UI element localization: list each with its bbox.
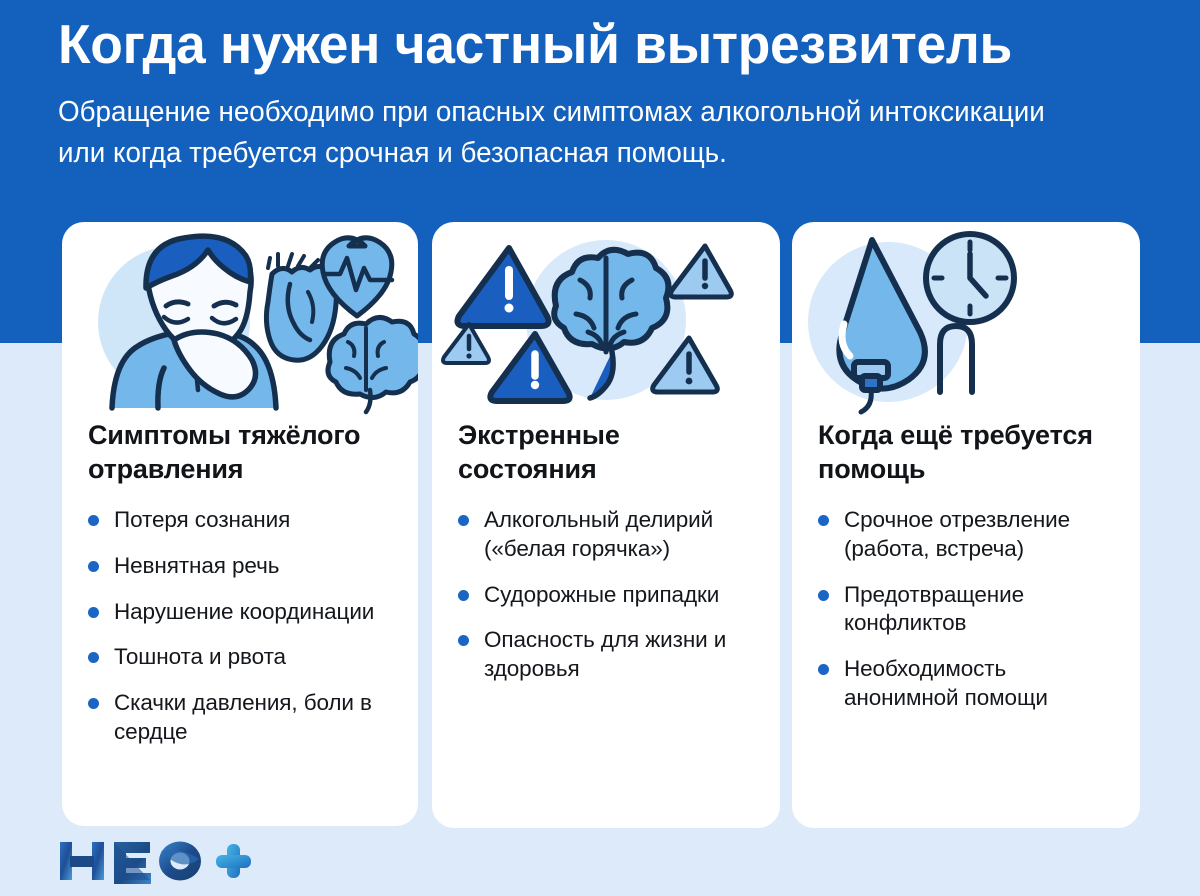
cards-row: Симптомы тяжёлого отравления Потеря созн… <box>0 0 1200 896</box>
bullet-dot-icon <box>88 515 99 526</box>
list-item-label: Срочное отрезвление (работа, встреча) <box>844 507 1070 561</box>
card-severe-poisoning[interactable]: Симптомы тяжёлого отравления Потеря созн… <box>62 222 418 826</box>
list-item: Судорожные припадки <box>458 581 758 610</box>
list-item: Предотвращение конфликтов <box>818 581 1118 639</box>
list-item: Алкогольный делирий («белая горячка») <box>458 506 758 564</box>
list-item: Невнятная речь <box>88 552 396 581</box>
list-item-label: Необходимость анонимной помощи <box>844 656 1048 710</box>
bullet-dot-icon <box>818 590 829 601</box>
bullet-dot-icon <box>458 635 469 646</box>
card-2-bullet-list: Алкогольный делирий («белая горячка») Су… <box>458 506 758 684</box>
card-3-body: Когда ещё требуется помощь Срочное отрез… <box>792 418 1140 713</box>
card-3-illustration <box>792 222 1140 418</box>
bullet-dot-icon <box>458 515 469 526</box>
card-2-body: Экстренные состояния Алкогольный делирий… <box>432 418 780 684</box>
card-1-bullet-list: Потеря сознания Невнятная речь Нарушение… <box>88 506 396 747</box>
list-item: Скачки давления, боли в сердце <box>88 689 396 747</box>
list-item-label: Скачки давления, боли в сердце <box>114 690 372 744</box>
list-item: Тошнота и рвота <box>88 643 396 672</box>
list-item-label: Алкогольный делирий («белая горячка») <box>484 507 713 561</box>
list-item-label: Предотвращение конфликтов <box>844 582 1024 636</box>
card-1-body: Симптомы тяжёлого отравления Потеря созн… <box>62 418 418 747</box>
logo-letter-n <box>60 842 104 880</box>
card-2-illustration <box>432 222 780 418</box>
list-item: Потеря сознания <box>88 506 396 535</box>
bullet-dot-icon <box>818 664 829 675</box>
list-item: Нарушение координации <box>88 598 396 627</box>
clock-icon <box>926 234 1014 322</box>
list-item-label: Опасность для жизни и здоровья <box>484 627 726 681</box>
list-item: Необходимость анонимной помощи <box>818 655 1118 713</box>
bullet-dot-icon <box>88 607 99 618</box>
list-item-label: Судорожные припадки <box>484 582 719 607</box>
bullet-dot-icon <box>458 590 469 601</box>
card-3-heading: Когда ещё требуется помощь <box>818 418 1118 486</box>
warning-triangle-icon <box>671 246 732 297</box>
infographic-page: Когда нужен частный вытрезвитель Обращен… <box>0 0 1200 896</box>
bullet-dot-icon <box>88 561 99 572</box>
list-item-label: Нарушение координации <box>114 599 374 624</box>
warning-triangle-icon <box>443 324 489 363</box>
neo-plus-logo[interactable]: НЕО+ <box>58 838 254 882</box>
logo-letter-o <box>159 842 201 881</box>
card-other-help-cases[interactable]: Когда ещё требуется помощь Срочное отрез… <box>792 222 1140 828</box>
card-1-illustration <box>62 222 418 418</box>
list-item: Опасность для жизни и здоровья <box>458 626 758 684</box>
logo-letter-e <box>114 842 151 884</box>
card-2-heading: Экстренные состояния <box>458 418 758 486</box>
list-item: Срочное отрезвление (работа, встреча) <box>818 506 1118 564</box>
card-1-heading: Симптомы тяжёлого отравления <box>88 418 396 486</box>
bullet-dot-icon <box>88 652 99 663</box>
list-item-label: Невнятная речь <box>114 553 279 578</box>
logo-plus-icon <box>216 844 251 878</box>
list-item-label: Потеря сознания <box>114 507 290 532</box>
list-item-label: Тошнота и рвота <box>114 644 286 669</box>
brain-icon <box>328 317 418 412</box>
card-emergency-states[interactable]: Экстренные состояния Алкогольный делирий… <box>432 222 780 828</box>
bullet-dot-icon <box>818 515 829 526</box>
card-3-bullet-list: Срочное отрезвление (работа, встреча) Пр… <box>818 506 1118 713</box>
bullet-dot-icon <box>88 698 99 709</box>
